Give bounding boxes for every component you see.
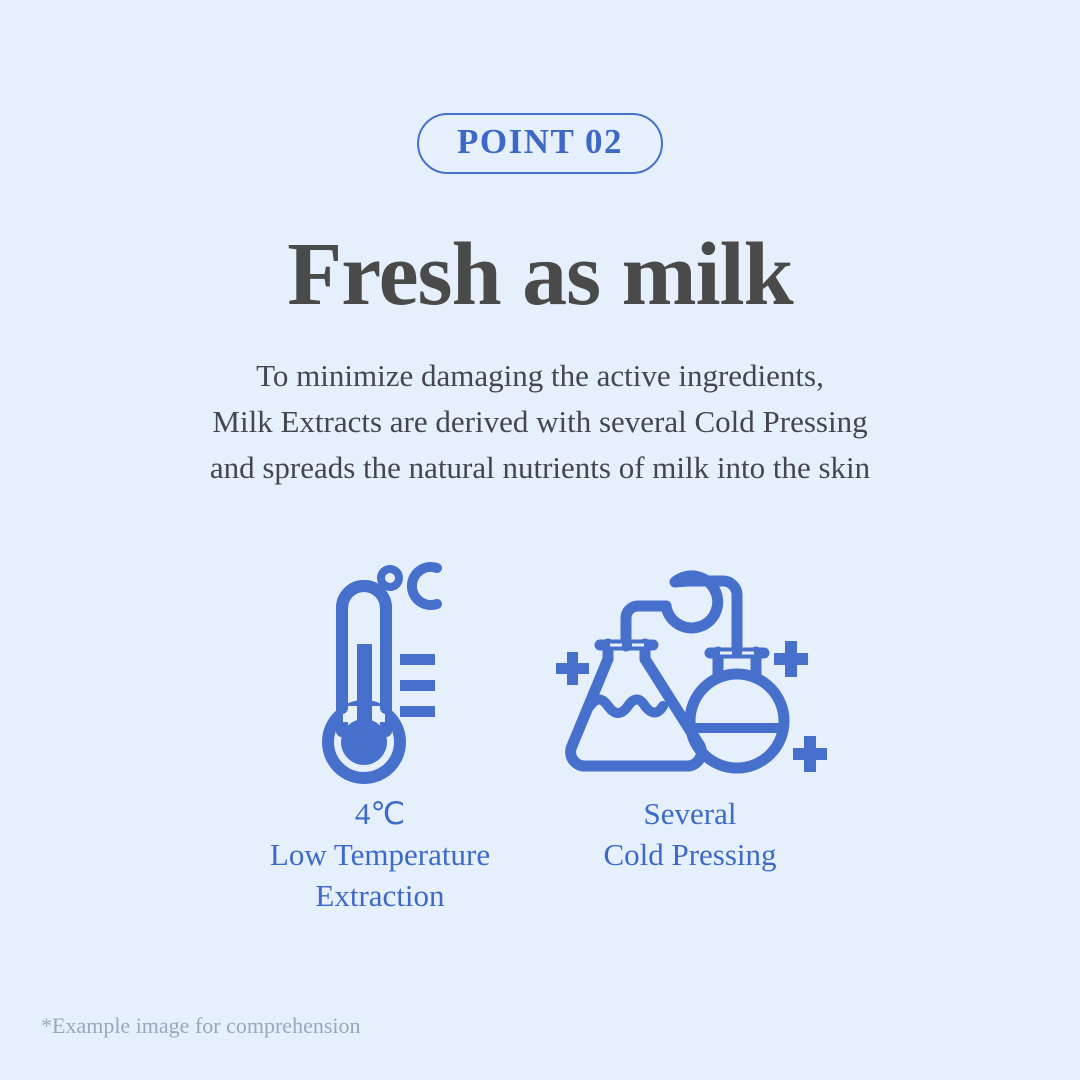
feature-label-line-1: Several — [603, 793, 776, 834]
lab-flasks-cold-press-icon — [548, 556, 833, 786]
feature-label-line-2: Low Temperature — [270, 834, 490, 875]
description-line-1: To minimize damaging the active ingredie… — [0, 353, 1080, 399]
point-02-infographic-slide: POINT 02 Fresh as milk To minimize damag… — [0, 0, 1080, 1080]
feature-cold-pressing: Several Cold Pressing — [530, 548, 850, 875]
feature-row: 4℃ Low Temperature Extraction — [0, 548, 1080, 916]
feature-low-temperature-extraction: 4℃ Low Temperature Extraction — [230, 548, 530, 916]
footnote-disclaimer: *Example image for comprehension — [41, 1013, 361, 1039]
feature-label-cold-pressing: Several Cold Pressing — [603, 793, 776, 875]
feature-label-line-3: Extraction — [270, 875, 490, 916]
feature-label-line-2: Cold Pressing — [603, 834, 776, 875]
badge-container: POINT 02 — [0, 113, 1080, 174]
thermometer-icon-box — [318, 548, 443, 793]
description-paragraph: To minimize damaging the active ingredie… — [0, 353, 1080, 491]
flask-icon-box — [548, 548, 833, 793]
page-title: Fresh as milk — [0, 228, 1080, 323]
description-line-3: and spreads the natural nutrients of mil… — [0, 445, 1080, 491]
description-line-2: Milk Extracts are derived with several C… — [0, 399, 1080, 445]
feature-label-low-temperature: 4℃ Low Temperature Extraction — [270, 793, 490, 916]
thermometer-celsius-icon — [318, 556, 443, 786]
feature-label-line-1: 4℃ — [270, 793, 490, 834]
point-badge: POINT 02 — [417, 113, 663, 174]
